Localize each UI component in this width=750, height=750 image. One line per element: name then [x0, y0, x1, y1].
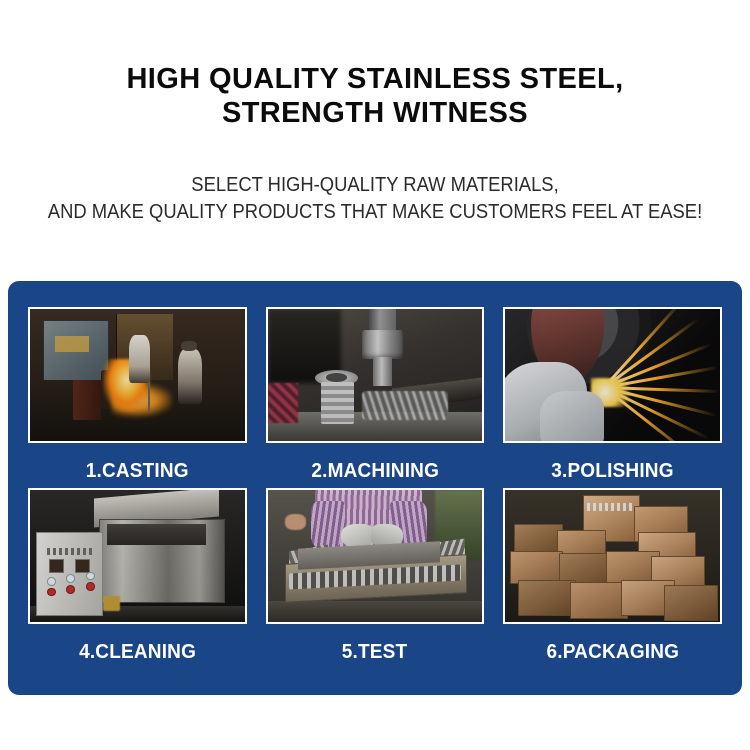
process-step-machining: 2.MACHINING — [266, 307, 485, 488]
step-caption: 3.POLISHING — [551, 460, 673, 482]
casting-scene — [30, 309, 245, 441]
machining-photo — [266, 307, 485, 443]
packaging-photo — [503, 488, 722, 624]
page-title: HIGH QUALITY STAINLESS STEEL, STRENGTH W… — [0, 62, 750, 130]
step-caption: 5.TEST — [342, 641, 408, 663]
process-panel: 1.CASTING 2.MACHINING — [8, 281, 742, 695]
polishing-scene — [505, 309, 720, 441]
cleaning-photo — [28, 488, 247, 624]
process-step-polishing: 3.POLISHING — [503, 307, 722, 488]
packaging-scene — [505, 490, 720, 622]
step-caption: 6.PACKAGING — [546, 641, 679, 663]
process-step-test: 5.TEST — [266, 488, 485, 669]
headline-line-2: STRENGTH WITNESS — [0, 96, 750, 130]
page-subtitle: SELECT HIGH-QUALITY RAW MATERIALS, AND M… — [30, 172, 720, 226]
subtitle-line-2: AND MAKE QUALITY PRODUCTS THAT MAKE CUST… — [30, 199, 720, 226]
headline-block: HIGH QUALITY STAINLESS STEEL, STRENGTH W… — [0, 62, 750, 130]
casting-photo — [28, 307, 247, 443]
process-step-cleaning: 4.CLEANING — [28, 488, 247, 669]
step-caption: 2.MACHINING — [311, 460, 439, 482]
cleaning-scene — [30, 490, 245, 622]
subtitle-block: SELECT HIGH-QUALITY RAW MATERIALS, AND M… — [0, 172, 750, 226]
machining-scene — [268, 309, 483, 441]
step-caption: 1.CASTING — [86, 460, 189, 482]
headline-line-1: HIGH QUALITY STAINLESS STEEL, — [126, 63, 623, 95]
process-step-casting: 1.CASTING — [28, 307, 247, 488]
test-scene — [268, 490, 483, 622]
process-step-packaging: 6.PACKAGING — [503, 488, 722, 669]
polishing-photo — [503, 307, 722, 443]
test-photo — [266, 488, 485, 624]
subtitle-line-1: SELECT HIGH-QUALITY RAW MATERIALS, — [191, 174, 558, 196]
process-grid: 1.CASTING 2.MACHINING — [28, 307, 722, 669]
product-process-banner: HIGH QUALITY STAINLESS STEEL, STRENGTH W… — [0, 0, 750, 750]
step-caption: 4.CLEANING — [79, 641, 196, 663]
